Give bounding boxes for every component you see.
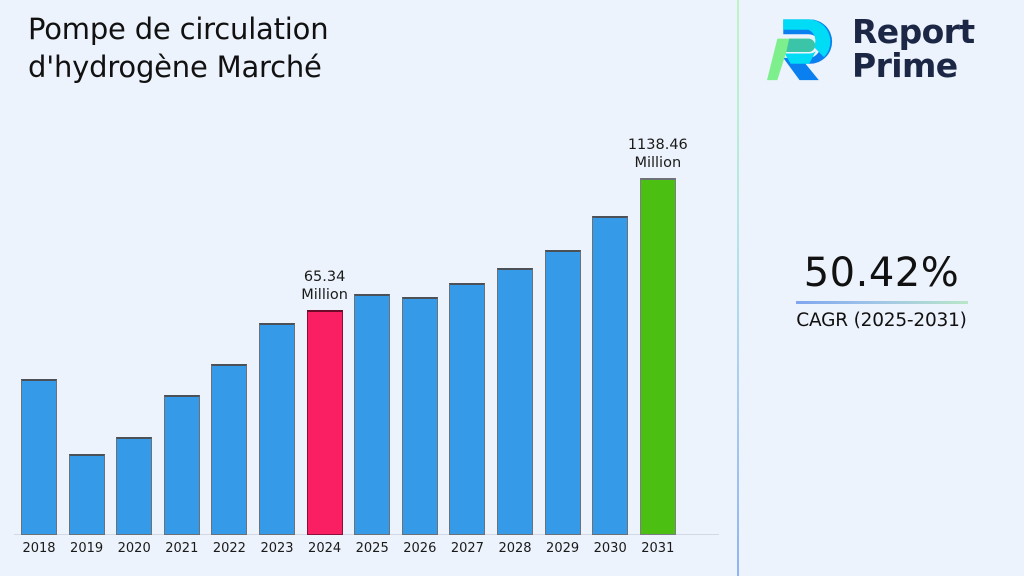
bar-rect-2025: [354, 294, 390, 535]
bar-2026: [402, 297, 438, 535]
bar-2019: [69, 454, 105, 535]
bar-rect-2027: [449, 283, 485, 535]
bar-rect-2024: [307, 310, 343, 535]
report-prime-logo-icon: [767, 12, 841, 86]
brand-logo: Report Prime: [767, 12, 975, 86]
bar-2031: 1138.46 Million: [640, 178, 676, 535]
bar-rect-2020: [116, 437, 152, 535]
cagr-value: 50.42%: [739, 252, 1024, 294]
bar-chart-plot-area: 20182019202020212022202365.34 Million202…: [0, 0, 737, 576]
bar-rect-2030: [592, 216, 628, 535]
side-panel: Report Prime 50.42% CAGR (2025-2031): [739, 0, 1024, 576]
bar-2020: [116, 437, 152, 535]
bar-rect-2029: [545, 250, 581, 535]
bar-rect-2031: [640, 178, 676, 535]
bar-2025: [354, 294, 390, 535]
bar-rect-2022: [211, 364, 247, 535]
bar-rect-2028: [497, 268, 533, 535]
bar-2029: [545, 250, 581, 535]
cagr-divider-rule: [796, 301, 968, 304]
bar-2024: 65.34 Million: [307, 310, 343, 535]
bar-rect-2026: [402, 297, 438, 535]
bar-2030: [592, 216, 628, 535]
cagr-block: 50.42% CAGR (2025-2031): [739, 252, 1024, 331]
bar-2027: [449, 283, 485, 535]
x-tick-2031: 2031: [628, 541, 688, 556]
bar-rect-2023: [259, 323, 295, 535]
cagr-label: CAGR (2025-2031): [739, 310, 1024, 331]
bar-2021: [164, 395, 200, 535]
bar-value-label-2031: 1138.46 Million: [603, 136, 713, 173]
bar-2028: [497, 268, 533, 535]
bar-rect-2018: [21, 379, 57, 535]
bar-rect-2021: [164, 395, 200, 535]
brand-name: Report Prime: [852, 15, 975, 82]
chart-panel: Pompe de circulation d'hydrogène Marché …: [0, 0, 737, 576]
bar-2022: [211, 364, 247, 535]
bar-2018: [21, 379, 57, 535]
bar-rect-2019: [69, 454, 105, 535]
bar-2023: [259, 323, 295, 535]
